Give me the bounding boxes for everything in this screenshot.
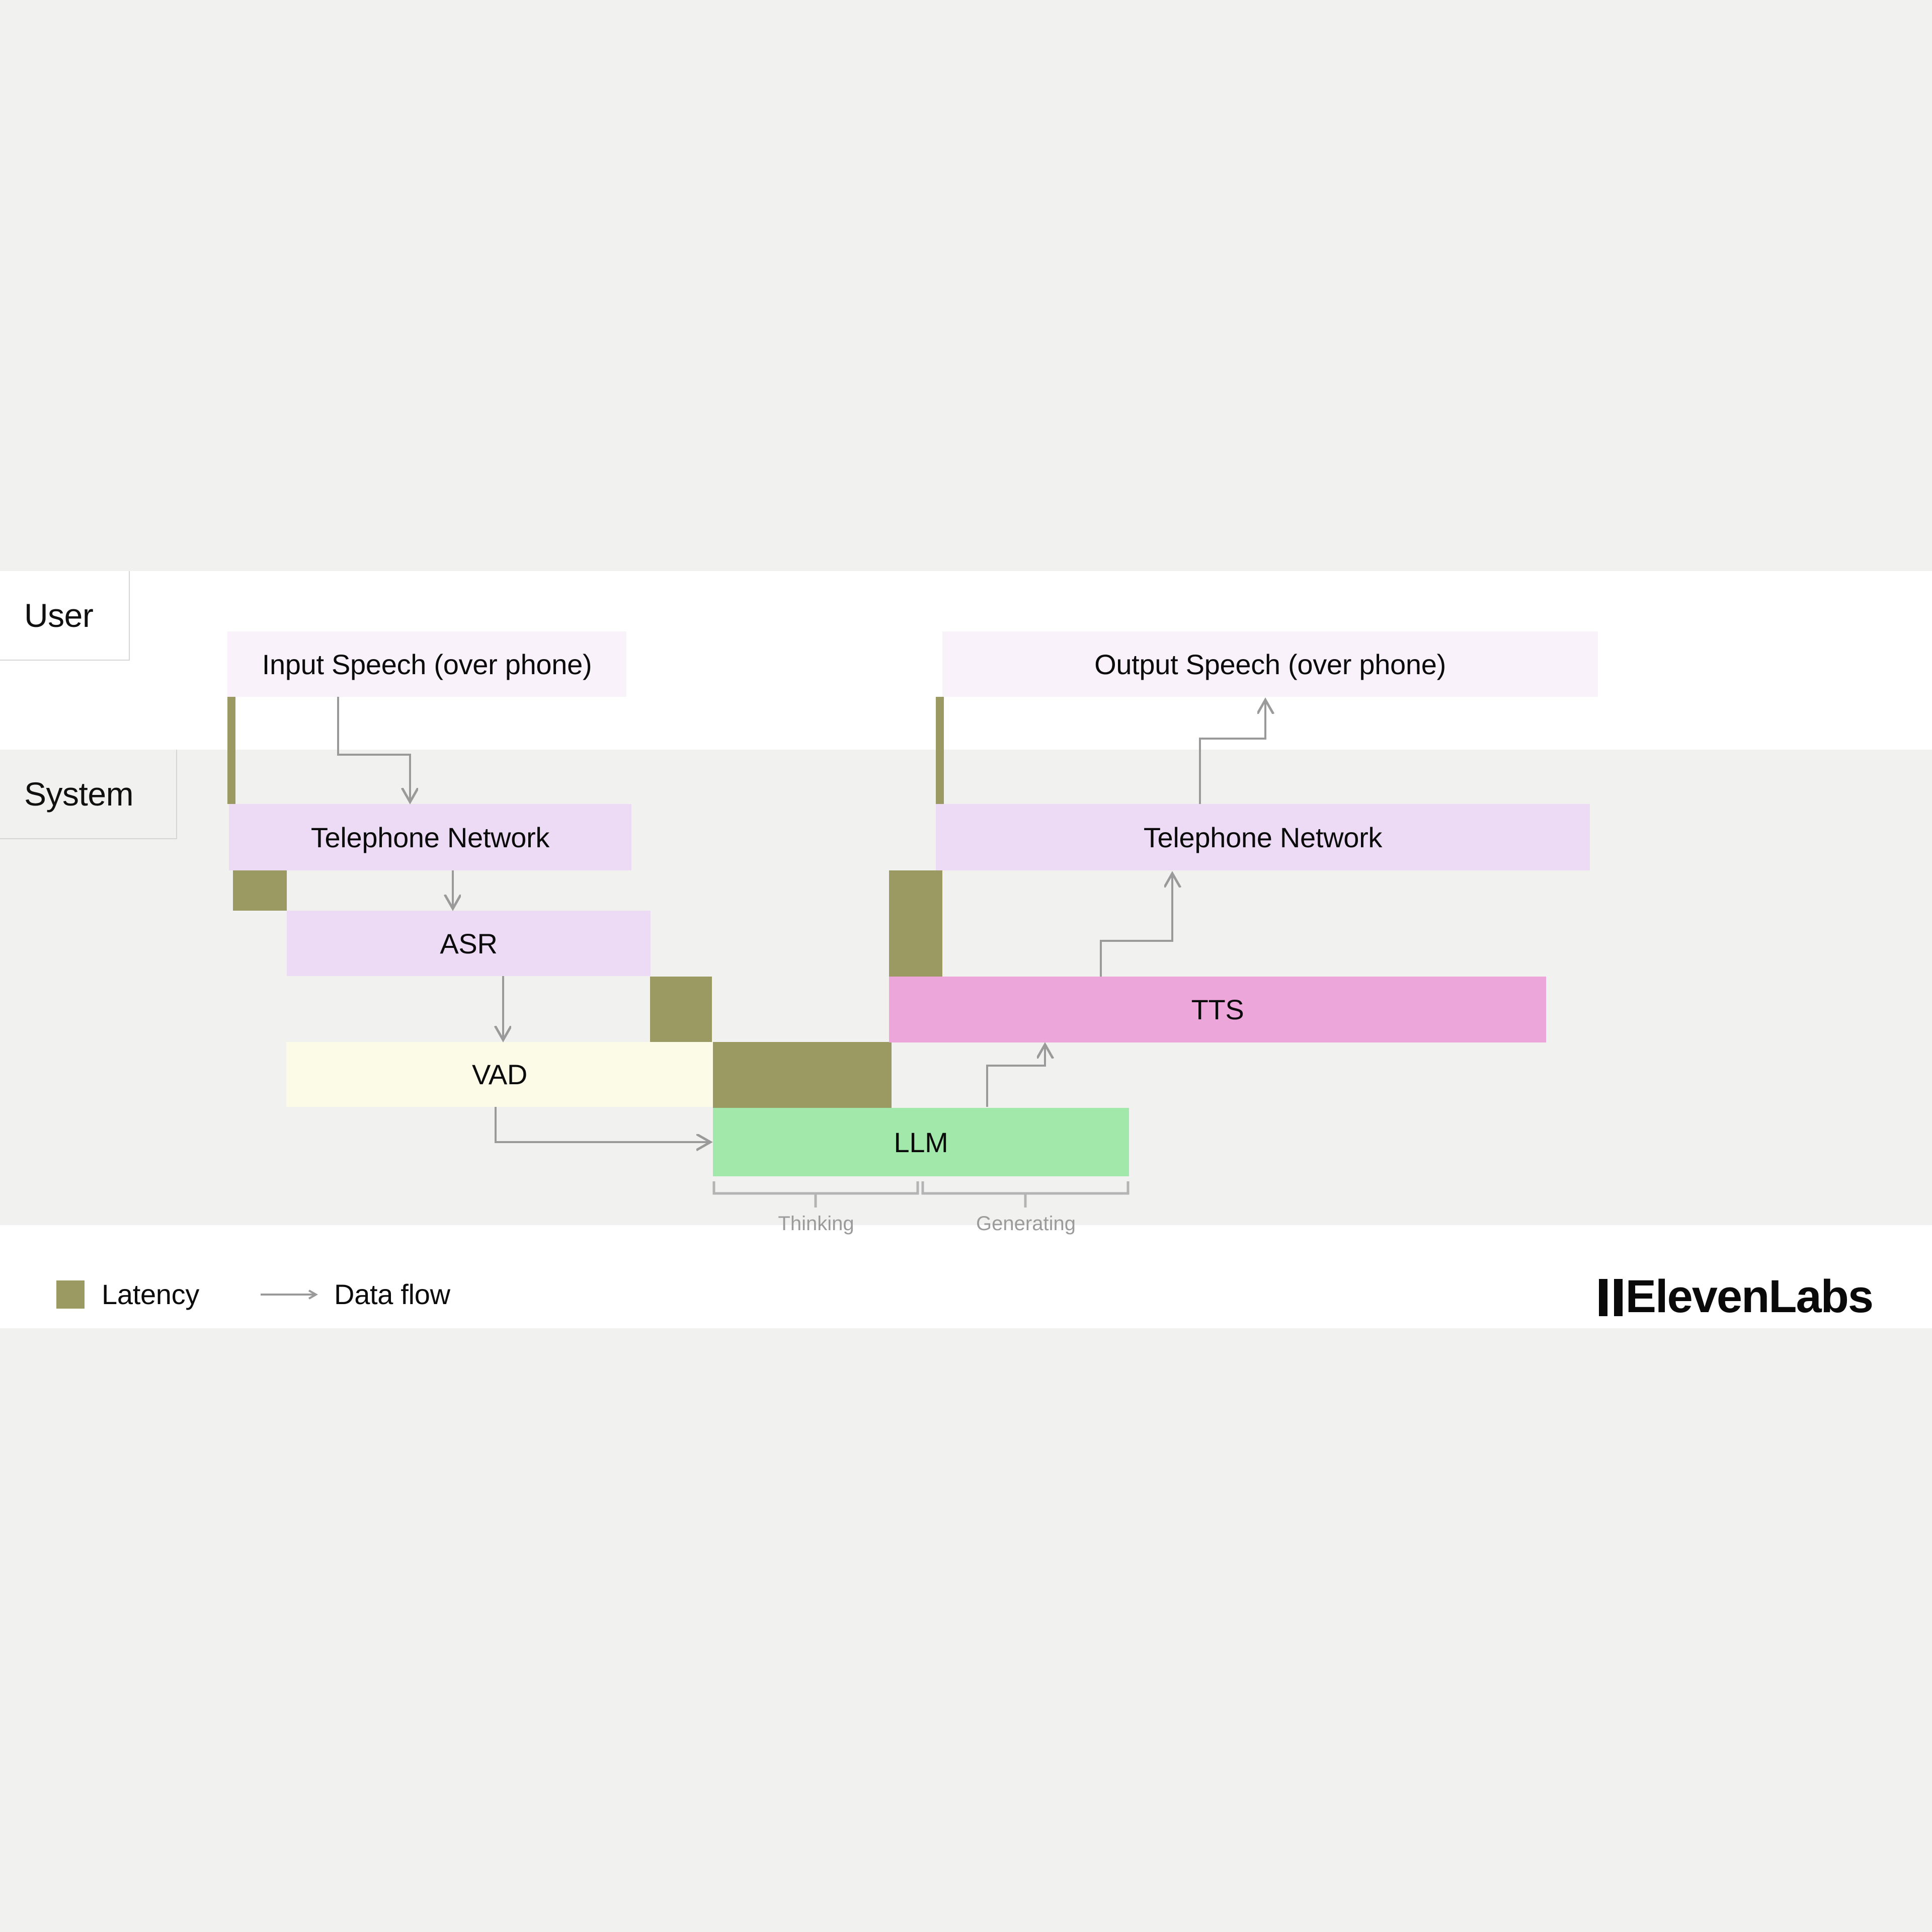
brand-name: ElevenLabs xyxy=(1626,1270,1873,1323)
latency-input-to-network xyxy=(227,697,235,804)
logo-bars-icon xyxy=(1599,1270,1623,1323)
latency-tts-to-network xyxy=(889,870,942,977)
block-llm[interactable]: LLM xyxy=(713,1108,1129,1176)
legend: Latency Data flow xyxy=(56,1278,450,1311)
latency-asr-to-llm xyxy=(650,977,712,1042)
diagram-canvas: User System Input Speech (over phone)Out… xyxy=(0,0,1932,1932)
lane-label-user: User xyxy=(0,571,130,661)
block-label-tts: TTS xyxy=(1191,993,1244,1026)
block-tts[interactable]: TTS xyxy=(889,977,1546,1042)
legend-dataflow-label: Data flow xyxy=(334,1278,450,1311)
latency-network-to-asr xyxy=(233,870,287,911)
arrow-right-icon xyxy=(260,1287,320,1302)
latency-swatch-icon xyxy=(56,1280,85,1309)
latency-output-network xyxy=(936,697,944,804)
lane-label-system-text: System xyxy=(24,775,133,813)
block-label-telephone-network-in: Telephone Network xyxy=(311,821,549,854)
block-label-llm: LLM xyxy=(894,1126,948,1159)
legend-latency-label: Latency xyxy=(102,1278,199,1311)
block-label-asr: ASR xyxy=(440,927,497,960)
lane-label-user-text: User xyxy=(24,596,93,634)
data-flow-arrow-icon xyxy=(260,1287,320,1302)
block-label-input-speech: Input Speech (over phone) xyxy=(262,648,592,681)
block-label-vad: VAD xyxy=(472,1058,527,1091)
block-output-speech[interactable]: Output Speech (over phone) xyxy=(942,631,1598,697)
block-input-speech[interactable]: Input Speech (over phone) xyxy=(227,631,626,697)
block-telephone-network-out[interactable]: Telephone Network xyxy=(936,804,1590,870)
block-label-output-speech: Output Speech (over phone) xyxy=(1094,648,1446,681)
latency-vad-to-llm xyxy=(713,1042,892,1108)
block-asr[interactable]: ASR xyxy=(287,911,651,976)
block-label-telephone-network-out: Telephone Network xyxy=(1144,821,1382,854)
phase-label-thinking: Thinking xyxy=(713,1213,919,1235)
lane-label-system: System xyxy=(0,750,177,839)
elevenlabs-logo: ElevenLabs xyxy=(1599,1270,1873,1323)
phase-label-generating: Generating xyxy=(923,1213,1129,1235)
block-vad[interactable]: VAD xyxy=(286,1042,713,1107)
block-telephone-network-in[interactable]: Telephone Network xyxy=(229,804,631,870)
